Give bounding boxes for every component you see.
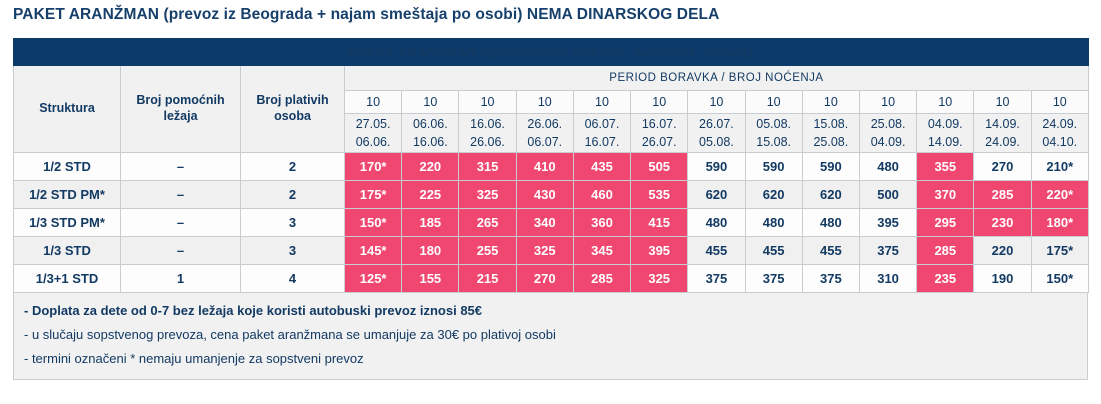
cell-price: 480 (859, 153, 916, 181)
cell-extra-beds: – (121, 209, 241, 237)
period-nights: 10 (974, 91, 1031, 114)
cell-price-highlighted: 360 (573, 209, 630, 237)
period-date-to: 04.10. (1032, 133, 1088, 151)
cell-price: 590 (745, 153, 802, 181)
cell-price-highlighted: 370 (917, 181, 974, 209)
table-row: 1/3+1 STD14125*1552152702853253753753753… (14, 265, 1089, 293)
page-title: PAKET ARANŽMAN (prevoz iz Beograda + naj… (13, 6, 719, 24)
cell-price: 375 (745, 265, 802, 293)
table-body: 1/2 STD–2170*220315410435505590590590480… (14, 153, 1089, 293)
period-date-from: 24.09. (1032, 115, 1088, 133)
cell-price-highlighted: 435 (573, 153, 630, 181)
cell-price-highlighted: 235 (917, 265, 974, 293)
period-nights: 10 (802, 91, 859, 114)
cell-price-highlighted: 355 (917, 153, 974, 181)
cell-price: 375 (859, 237, 916, 265)
note-line: - u slučaju sopstvenog prevoza, cena pak… (24, 323, 1077, 347)
cell-extra-beds: 1 (121, 265, 241, 293)
col-header-payable-persons: Broj plativih osoba (241, 66, 345, 153)
period-dates: 15.08.25.08. (802, 114, 859, 153)
period-boravka-header: PERIOD BORAVKA / BROJ NOĆENJA (345, 66, 1089, 91)
cell-price: 175* (1031, 237, 1088, 265)
period-date-to: 25.08. (803, 133, 859, 151)
cell-price: 480 (745, 209, 802, 237)
period-dates: 06.06.16.06. (402, 114, 459, 153)
cell-price-highlighted: 225 (402, 181, 459, 209)
cell-extra-beds: – (121, 153, 241, 181)
cell-payable-persons: 4 (241, 265, 345, 293)
period-nights: 10 (688, 91, 745, 114)
period-nights: 10 (859, 91, 916, 114)
period-date-from: 05.08. (746, 115, 802, 133)
cell-price-highlighted: 150* (345, 209, 402, 237)
cell-price: 455 (688, 237, 745, 265)
table-banner-title: PAKET ARANŽMAN (apartmanski smeštaj i au… (14, 39, 1089, 66)
cell-price: 395 (859, 209, 916, 237)
period-date-from: 14.09. (974, 115, 1030, 133)
cell-price-highlighted: 340 (516, 209, 573, 237)
period-date-to: 14.09. (917, 133, 973, 151)
cell-price-highlighted: 325 (631, 265, 688, 293)
table-row: 1/3 STD PM*–3150*18526534036041548048048… (14, 209, 1089, 237)
cell-price: 375 (802, 265, 859, 293)
cell-price: 480 (688, 209, 745, 237)
cell-price-highlighted: 325 (459, 181, 516, 209)
banner-row: PAKET ARANŽMAN (apartmanski smeštaj i au… (14, 39, 1089, 66)
cell-price-highlighted: 265 (459, 209, 516, 237)
cell-price: 590 (802, 153, 859, 181)
cell-price: 590 (688, 153, 745, 181)
period-nights: 10 (745, 91, 802, 114)
cell-price: 480 (802, 209, 859, 237)
table-row: 1/2 STD–2170*220315410435505590590590480… (14, 153, 1089, 181)
cell-price-highlighted: 175* (345, 181, 402, 209)
table-row: 1/2 STD PM*–2175*22532543046053562062062… (14, 181, 1089, 209)
cell-price-highlighted: 185 (402, 209, 459, 237)
cell-price: 220 (974, 237, 1031, 265)
cell-price: 375 (688, 265, 745, 293)
cell-price: 500 (859, 181, 916, 209)
cell-price-highlighted: 295 (917, 209, 974, 237)
cell-payable-persons: 2 (241, 181, 345, 209)
cell-price: 620 (745, 181, 802, 209)
period-nights: 10 (573, 91, 630, 114)
note-line: - termini označeni * nemaju umanjenje za… (24, 347, 1077, 371)
period-dates: 14.09.24.09. (974, 114, 1031, 153)
period-nights: 10 (345, 91, 402, 114)
cell-price-highlighted: 395 (631, 237, 688, 265)
cell-price-highlighted: 230 (974, 209, 1031, 237)
col-header-extra-beds: Broj pomoćnih ležaja (121, 66, 241, 153)
period-nights: 10 (917, 91, 974, 114)
cell-price: 620 (688, 181, 745, 209)
col-header-structure: Struktura (14, 66, 121, 153)
cell-structure: 1/2 STD PM* (14, 181, 121, 209)
cell-structure: 1/3+1 STD (14, 265, 121, 293)
period-dates: 05.08.15.08. (745, 114, 802, 153)
cell-price-highlighted: 345 (573, 237, 630, 265)
period-dates: 04.09.14.09. (917, 114, 974, 153)
cell-price-highlighted: 460 (573, 181, 630, 209)
cell-price-highlighted: 155 (402, 265, 459, 293)
cell-price: 455 (745, 237, 802, 265)
cell-payable-persons: 3 (241, 237, 345, 265)
cell-price-highlighted: 220* (1031, 181, 1088, 209)
period-date-from: 26.07. (688, 115, 744, 133)
cell-extra-beds: – (121, 181, 241, 209)
cell-structure: 1/3 STD (14, 237, 121, 265)
cell-price: 190 (974, 265, 1031, 293)
period-nights: 10 (1031, 91, 1088, 114)
period-date-to: 06.07. (517, 133, 573, 151)
period-dates: 16.07.26.07. (631, 114, 688, 153)
period-date-to: 16.06. (402, 133, 458, 151)
cell-payable-persons: 2 (241, 153, 345, 181)
period-date-to: 26.06. (459, 133, 515, 151)
cell-price: 210* (1031, 153, 1088, 181)
period-date-from: 04.09. (917, 115, 973, 133)
period-dates: 25.08.04.09. (859, 114, 916, 153)
cell-price-highlighted: 180* (1031, 209, 1088, 237)
cell-price-highlighted: 255 (459, 237, 516, 265)
cell-price-highlighted: 315 (459, 153, 516, 181)
notes-box: - Doplata za dete od 0-7 bez ležaja koje… (13, 293, 1088, 380)
period-nights: 10 (402, 91, 459, 114)
period-nights: 10 (459, 91, 516, 114)
note-line: - Doplata za dete od 0-7 bez ležaja koje… (24, 299, 1077, 323)
cell-price: 310 (859, 265, 916, 293)
price-table-container: PAKET ARANŽMAN (apartmanski smeštaj i au… (13, 38, 1088, 380)
cell-extra-beds: – (121, 237, 241, 265)
cell-price-highlighted: 285 (573, 265, 630, 293)
cell-price-highlighted: 125* (345, 265, 402, 293)
cell-price-highlighted: 220 (402, 153, 459, 181)
cell-price-highlighted: 170* (345, 153, 402, 181)
period-date-to: 06.06. (345, 133, 401, 151)
cell-price: 270 (974, 153, 1031, 181)
period-dates: 27.05.06.06. (345, 114, 402, 153)
period-date-from: 15.08. (803, 115, 859, 133)
period-dates: 16.06.26.06. (459, 114, 516, 153)
period-date-from: 06.06. (402, 115, 458, 133)
cell-price-highlighted: 410 (516, 153, 573, 181)
cell-price-highlighted: 180 (402, 237, 459, 265)
period-date-to: 16.07. (574, 133, 630, 151)
period-nights: 10 (516, 91, 573, 114)
table-header: PAKET ARANŽMAN (apartmanski smeštaj i au… (14, 39, 1089, 153)
period-date-to: 04.09. (860, 133, 916, 151)
period-dates: 26.06.06.07. (516, 114, 573, 153)
cell-price: 620 (802, 181, 859, 209)
period-dates: 06.07.16.07. (573, 114, 630, 153)
cell-price-highlighted: 215 (459, 265, 516, 293)
period-date-to: 15.08. (746, 133, 802, 151)
cell-price-highlighted: 505 (631, 153, 688, 181)
cell-price-highlighted: 285 (917, 237, 974, 265)
period-date-from: 27.05. (345, 115, 401, 133)
period-date-to: 26.07. (631, 133, 687, 151)
cell-structure: 1/3 STD PM* (14, 209, 121, 237)
period-date-from: 25.08. (860, 115, 916, 133)
cell-price-highlighted: 325 (516, 237, 573, 265)
period-date-to: 05.08. (688, 133, 744, 151)
period-dates: 24.09.04.10. (1031, 114, 1088, 153)
table-row: 1/3 STD–3145*180255325345395455455455375… (14, 237, 1089, 265)
price-table: PAKET ARANŽMAN (apartmanski smeštaj i au… (13, 38, 1089, 293)
period-date-from: 26.06. (517, 115, 573, 133)
period-date-from: 06.07. (574, 115, 630, 133)
cell-price-highlighted: 535 (631, 181, 688, 209)
period-header-row: Struktura Broj pomoćnih ležaja Broj plat… (14, 66, 1089, 91)
cell-price-highlighted: 415 (631, 209, 688, 237)
cell-structure: 1/2 STD (14, 153, 121, 181)
cell-price-highlighted: 145* (345, 237, 402, 265)
period-dates: 26.07.05.08. (688, 114, 745, 153)
cell-price: 455 (802, 237, 859, 265)
period-nights: 10 (631, 91, 688, 114)
cell-price-highlighted: 270 (516, 265, 573, 293)
period-date-from: 16.07. (631, 115, 687, 133)
cell-price-highlighted: 430 (516, 181, 573, 209)
period-date-to: 24.09. (974, 133, 1030, 151)
cell-price-highlighted: 285 (974, 181, 1031, 209)
cell-payable-persons: 3 (241, 209, 345, 237)
period-date-from: 16.06. (459, 115, 515, 133)
cell-price: 150* (1031, 265, 1088, 293)
